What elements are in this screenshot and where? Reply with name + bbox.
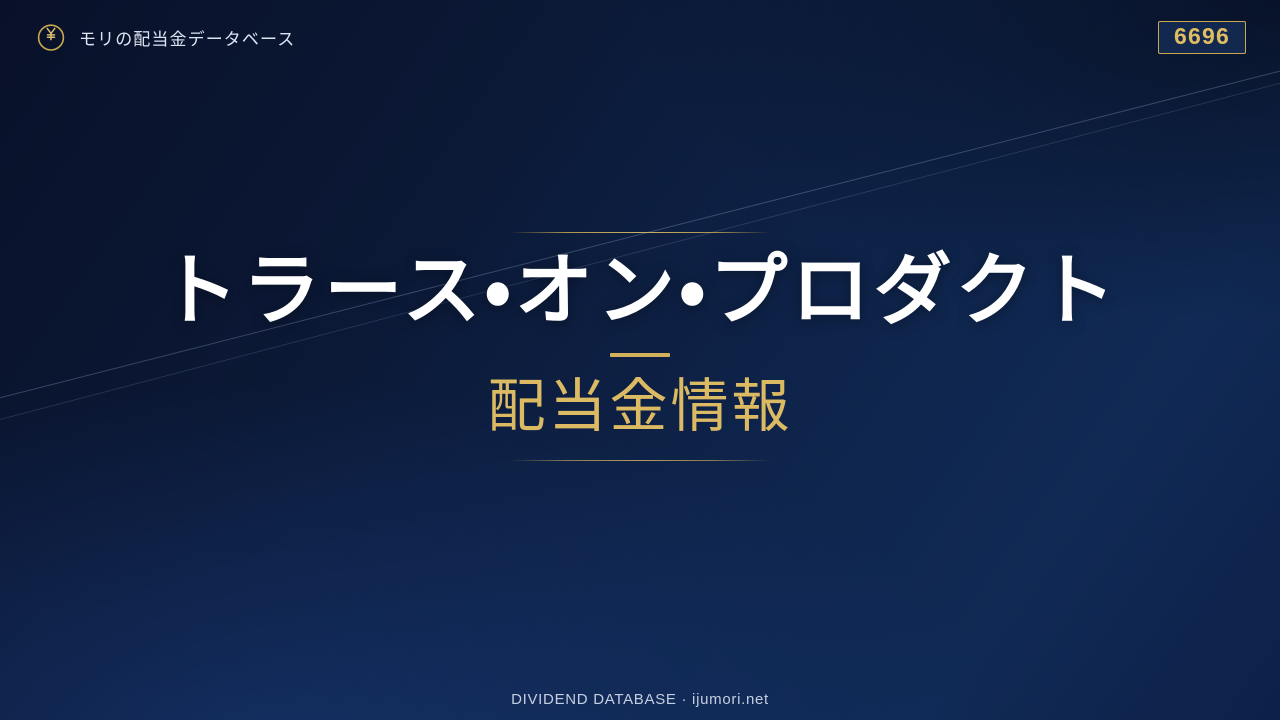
site-name: モリの配当金データベース: [79, 25, 295, 50]
hero-block: トラース・オン・プロダクト 配当金情報: [0, 232, 1280, 461]
yen-circle-icon: [36, 22, 66, 52]
footer-caption: DIVIDEND DATABASE · ijumori.net: [0, 691, 1280, 708]
title-card: モリの配当金データベース 6696 トラース・オン・プロダクト 配当金情報 DI…: [0, 0, 1280, 720]
page-subtitle: 配当金情報: [0, 375, 1280, 440]
brand[interactable]: モリの配当金データベース: [36, 22, 295, 52]
stock-code-badge: 6696: [1158, 21, 1246, 54]
divider-bottom: [509, 460, 771, 461]
divider-top: [509, 232, 771, 233]
page-title: トラース・オン・プロダクト: [0, 251, 1280, 331]
page-header: モリの配当金データベース 6696: [0, 0, 1280, 74]
hero-spacer: [0, 440, 1280, 460]
divider-middle: [610, 353, 670, 357]
